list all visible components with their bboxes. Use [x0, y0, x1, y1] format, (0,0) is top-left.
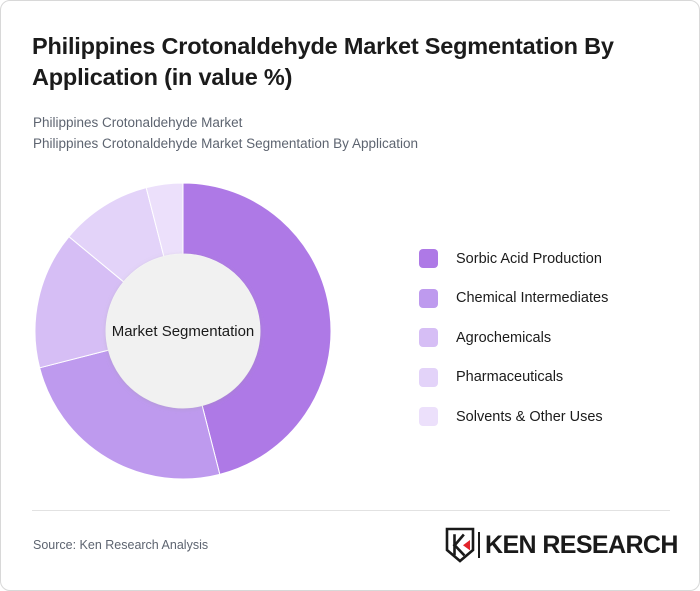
subtitle-market: Philippines Crotonaldehyde Market [33, 113, 653, 134]
donut-hub [106, 254, 260, 408]
footer-divider [32, 510, 670, 511]
donut-svg [34, 182, 332, 480]
legend-label: Sorbic Acid Production [456, 251, 602, 267]
source-note: Source: Ken Research Analysis [33, 538, 208, 552]
legend-swatch-icon [419, 328, 438, 347]
donut-chart: Market Segmentation [34, 182, 332, 480]
legend-label: Solvents & Other Uses [456, 409, 603, 425]
legend-label: Chemical Intermediates [456, 290, 608, 306]
logo-wordmark: KEN RESEARCH [485, 531, 678, 560]
legend-item[interactable]: Pharmaceuticals [419, 358, 669, 398]
page-title: Philippines Crotonaldehyde Market Segmen… [32, 31, 662, 94]
legend-swatch-icon [419, 249, 438, 268]
legend-item[interactable]: Chemical Intermediates [419, 279, 669, 319]
legend-item[interactable]: Agrochemicals [419, 318, 669, 358]
ken-research-logo: KEN RESEARCH [445, 525, 678, 565]
logo-divider [478, 532, 480, 558]
legend-swatch-icon [419, 368, 438, 387]
legend-label: Agrochemicals [456, 330, 551, 346]
legend-swatch-icon [419, 407, 438, 426]
legend-label: Pharmaceuticals [456, 369, 563, 385]
chart-card: Philippines Crotonaldehyde Market Segmen… [0, 0, 700, 591]
legend-swatch-icon [419, 289, 438, 308]
subtitle-block: Philippines Crotonaldehyde Market Philip… [33, 113, 653, 154]
legend-item[interactable]: Solvents & Other Uses [419, 397, 669, 437]
chart-legend: Sorbic Acid ProductionChemical Intermedi… [419, 239, 669, 437]
ken-research-logo-mark [445, 527, 475, 563]
legend-item[interactable]: Sorbic Acid Production [419, 239, 669, 279]
subtitle-segmentation: Philippines Crotonaldehyde Market Segmen… [33, 134, 653, 155]
chart-area: Market Segmentation Sorbic Acid Producti… [1, 161, 700, 501]
